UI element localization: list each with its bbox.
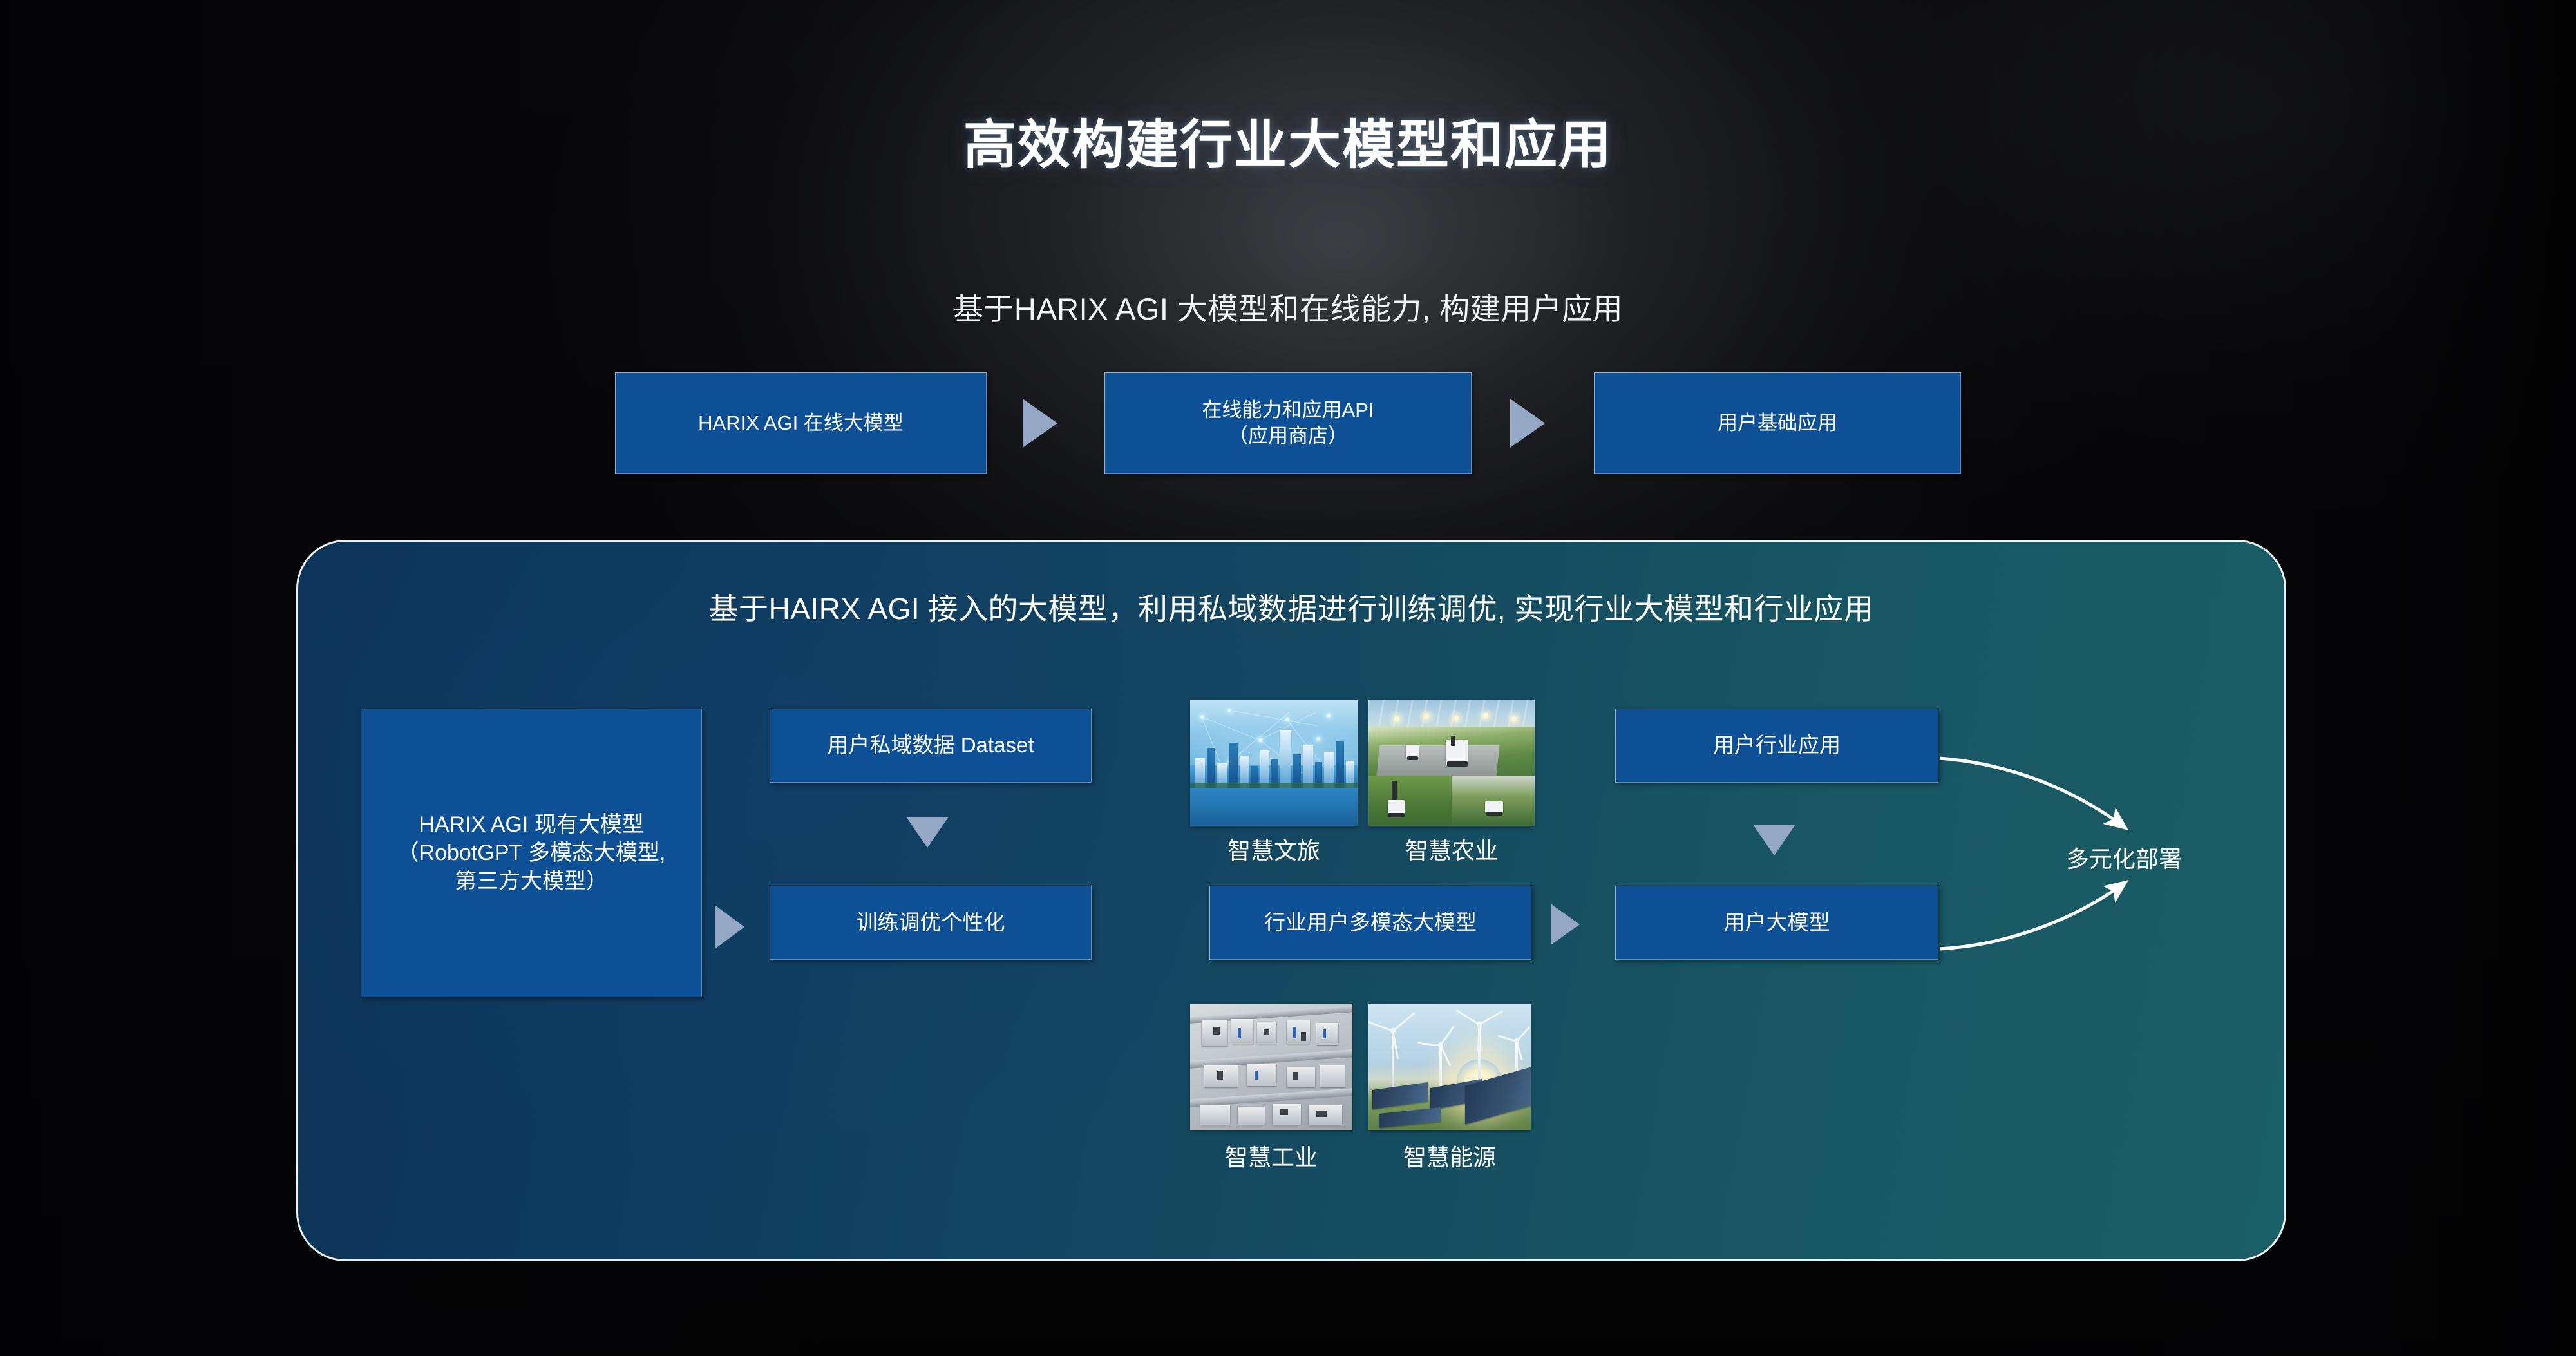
panel-heading: 基于HAIRX AGI 接入的大模型，利用私域数据进行训练调优, 实现行业大模型… <box>298 586 2284 628</box>
greenhouse-lower-right-photo <box>1452 776 1535 826</box>
greenhouse-lower-left-photo <box>1368 776 1452 826</box>
page-subtitle: 基于HARIX AGI 大模型和在线能力, 构建用户应用 <box>0 284 2576 329</box>
smart-city-artwork <box>1190 700 1358 826</box>
dataset-box-label: 用户私域数据 Dataset <box>828 732 1034 759</box>
smart-city-caption: 智慧文旅 <box>1190 832 1358 866</box>
source-model-box-line1: HARIX AGI 现有大模型 <box>419 810 644 839</box>
smart-industry-artwork <box>1190 1004 1352 1130</box>
top-flow-box-api-store-line2: （应用商店） <box>1228 423 1348 449</box>
right-arrow-icon-top-2 <box>1510 399 1545 448</box>
right-arrow-icon-model-to-right <box>1551 904 1580 945</box>
smart-industry-caption: 智慧工业 <box>1190 1139 1352 1172</box>
top-flow-box-user-base-app-label: 用户基础应用 <box>1718 410 1837 436</box>
top-flow-box-api-store[interactable]: 在线能力和应用API （应用商店） <box>1104 372 1472 474</box>
industry-app-box[interactable]: 用户行业应用 <box>1615 709 1938 783</box>
user-model-box-label: 用户大模型 <box>1724 909 1830 937</box>
right-arrow-icon-top-1 <box>1023 399 1057 448</box>
deployment-label: 多元化部署 <box>2066 841 2182 874</box>
source-model-box-line2: （RobotGPT 多模态大模型, <box>397 839 666 867</box>
city-water-reflection <box>1190 788 1358 826</box>
smart-agriculture-image[interactable] <box>1368 700 1535 826</box>
slide-canvas: 高效构建行业大模型和应用 基于HARIX AGI 大模型和在线能力, 构建用户应… <box>0 0 2576 1356</box>
source-model-box-line3: 第三方大模型） <box>455 867 608 895</box>
greenhouse-glass-roof <box>1368 700 1535 730</box>
industry-app-box-label: 用户行业应用 <box>1713 732 1841 759</box>
smart-agriculture-artwork <box>1368 700 1535 826</box>
industry-model-box[interactable]: 行业用户多模态大模型 <box>1209 886 1531 960</box>
page-title: 高效构建行业大模型和应用 <box>0 102 2576 178</box>
training-box-label: 训练调优个性化 <box>857 909 1005 937</box>
smart-energy-caption: 智慧能源 <box>1368 1139 1531 1172</box>
smart-energy-artwork <box>1368 1004 1531 1130</box>
smart-city-image[interactable] <box>1190 700 1358 826</box>
dataset-box[interactable]: 用户私域数据 Dataset <box>770 709 1092 783</box>
top-flow-box-online-model[interactable]: HARIX AGI 在线大模型 <box>615 372 987 474</box>
top-flow-box-api-store-line1: 在线能力和应用API <box>1202 397 1374 423</box>
training-box[interactable]: 训练调优个性化 <box>770 886 1092 960</box>
down-arrow-icon-dataset-to-training <box>906 817 949 848</box>
smart-agriculture-caption: 智慧农业 <box>1368 832 1535 866</box>
down-arrow-icon-app-to-model <box>1753 825 1795 855</box>
top-flow-box-online-model-label: HARIX AGI 在线大模型 <box>698 410 904 436</box>
right-arrow-icon-source-to-training <box>715 905 744 949</box>
smart-industry-image[interactable] <box>1190 1004 1352 1130</box>
top-flow-box-user-base-app[interactable]: 用户基础应用 <box>1594 372 1961 474</box>
source-model-box[interactable]: HARIX AGI 现有大模型 （RobotGPT 多模态大模型, 第三方大模型… <box>361 709 702 997</box>
greenhouse-upper-photo <box>1368 700 1535 776</box>
industry-model-box-label: 行业用户多模态大模型 <box>1264 909 1477 937</box>
user-model-box[interactable]: 用户大模型 <box>1615 886 1938 960</box>
greenhouse-path <box>1377 745 1500 776</box>
smart-energy-image[interactable] <box>1368 1004 1531 1130</box>
